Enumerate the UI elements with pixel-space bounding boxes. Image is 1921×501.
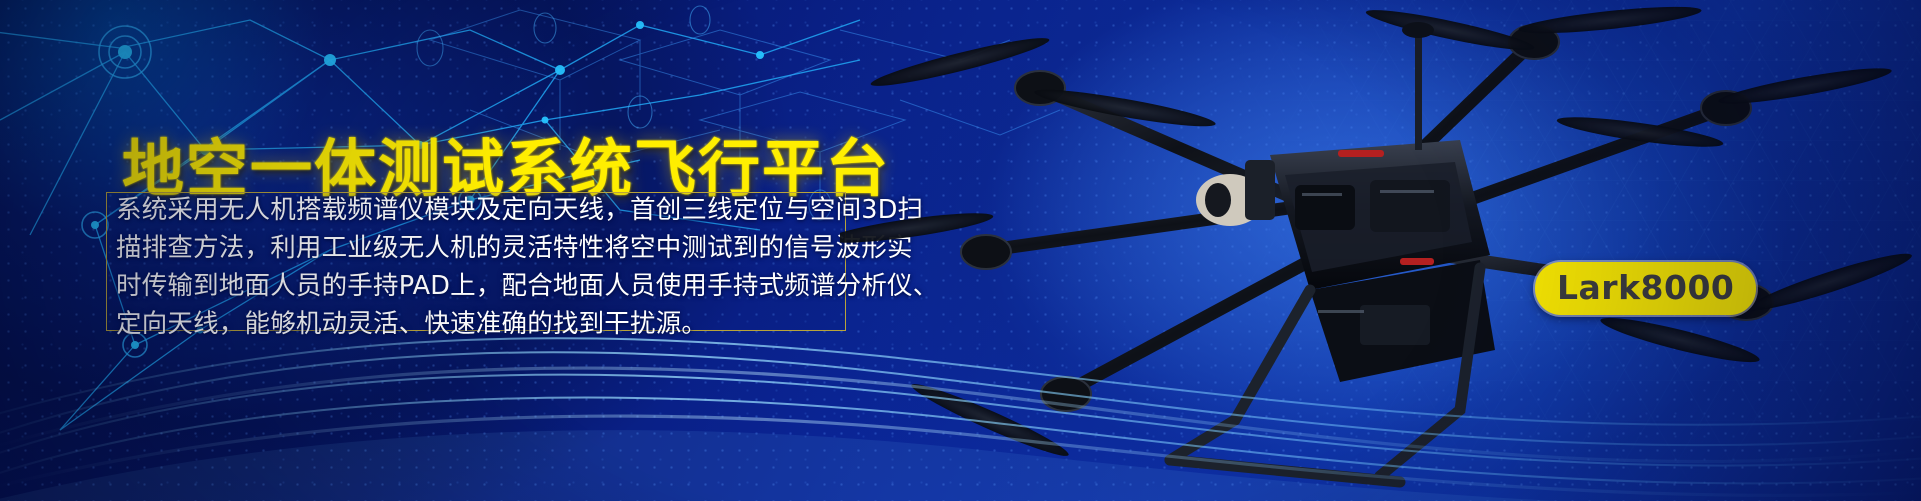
- product-banner: 地空一体测试系统飞行平台 系统采用无人机搭载频谱仪模块及定向天线，首创三线定位与…: [0, 0, 1921, 501]
- description-line: 系统采用无人机搭载频谱仪模块及定向天线，首创三线定位与空间3D扫: [116, 191, 844, 229]
- product-badge[interactable]: Lark8000: [1535, 262, 1756, 315]
- description-line: 时传输到地面人员的手持PAD上，配合地面人员使用手持式频谱分析仪、: [116, 267, 844, 305]
- wave-decoration: [0, 316, 1921, 501]
- description-line: 描排查方法，利用工业级无人机的灵活特性将空中测试到的信号波形实: [116, 229, 844, 267]
- description-box: 系统采用无人机搭载频谱仪模块及定向天线，首创三线定位与空间3D扫 描排查方法，利…: [106, 192, 846, 331]
